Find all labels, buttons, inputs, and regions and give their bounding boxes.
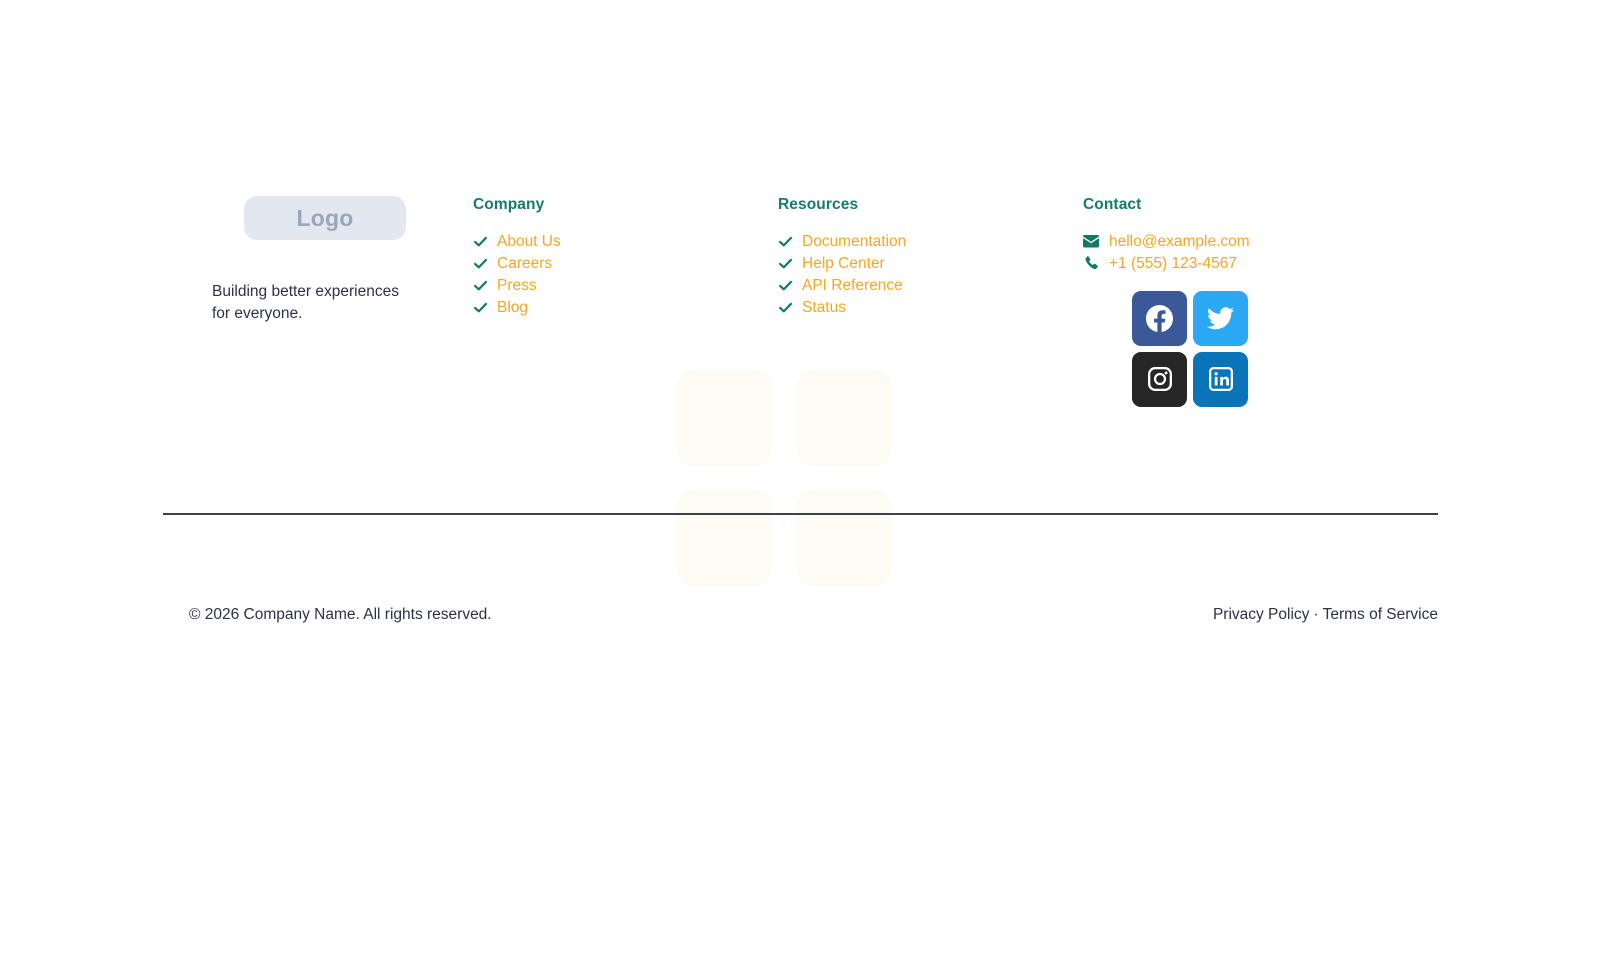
check-icon <box>778 234 793 249</box>
link-press[interactable]: Press <box>497 277 537 295</box>
copyright-text: © 2026 Company Name. All rights reserved… <box>189 606 492 624</box>
list-item[interactable]: About Us <box>473 231 778 253</box>
list-item[interactable]: Careers <box>473 253 778 275</box>
social-link-instagram[interactable] <box>1132 352 1187 407</box>
link-about-us[interactable]: About Us <box>497 233 561 251</box>
check-icon <box>473 234 488 249</box>
link-documentation[interactable]: Documentation <box>802 233 906 251</box>
twitter-icon <box>1207 305 1234 332</box>
brand-tagline: Building better experiences for everyone… <box>212 281 412 325</box>
logo-text: Logo <box>297 205 354 232</box>
footer-column-contact: Contact hello@example.com +1 (555) 123-4… <box>1083 196 1383 407</box>
instagram-icon <box>1147 366 1173 392</box>
link-blog[interactable]: Blog <box>497 299 528 317</box>
contact-phone[interactable]: +1 (555) 123-4567 <box>1109 255 1237 273</box>
envelope-icon <box>1083 234 1099 250</box>
linkedin-icon <box>1208 366 1234 392</box>
column-heading-contact: Contact <box>1083 196 1383 214</box>
link-status[interactable]: Status <box>802 299 846 317</box>
column-heading-company: Company <box>473 196 778 214</box>
facebook-icon <box>1146 305 1173 332</box>
contact-phone-row[interactable]: +1 (555) 123-4567 <box>1083 253 1383 275</box>
footer-column-brand: Logo Building better experiences for eve… <box>163 196 473 325</box>
list-item[interactable]: Documentation <box>778 231 1083 253</box>
contact-email-row[interactable]: hello@example.com <box>1083 231 1383 253</box>
footer-columns: Logo Building better experiences for eve… <box>163 196 1438 407</box>
legal-separator: · <box>1313 606 1318 624</box>
link-api-reference[interactable]: API Reference <box>802 277 903 295</box>
contact-email[interactable]: hello@example.com <box>1109 233 1250 251</box>
list-item[interactable]: Press <box>473 275 778 297</box>
resources-link-list: Documentation Help Center <box>778 231 1083 319</box>
footer-column-company: Company About Us Careers <box>473 196 778 319</box>
phone-icon <box>1083 256 1099 272</box>
check-icon <box>473 256 488 271</box>
site-footer: Logo Building better experiences for eve… <box>0 0 1600 978</box>
footer-column-resources: Resources Documentation Help <box>778 196 1083 319</box>
check-icon <box>778 278 793 293</box>
check-icon <box>778 256 793 271</box>
list-item[interactable]: API Reference <box>778 275 1083 297</box>
footer-content: Logo Building better experiences for eve… <box>163 196 1438 407</box>
social-link-facebook[interactable] <box>1132 291 1187 346</box>
footer-bottom-bar: © 2026 Company Name. All rights reserved… <box>163 606 1438 624</box>
footer-page: Logo Building better experiences for eve… <box>0 0 1600 978</box>
check-icon <box>473 300 488 315</box>
logo-placeholder[interactable]: Logo <box>244 196 406 240</box>
link-help-center[interactable]: Help Center <box>802 255 885 273</box>
social-link-twitter[interactable] <box>1193 291 1248 346</box>
link-careers[interactable]: Careers <box>497 255 552 273</box>
footer-divider <box>163 513 1438 515</box>
list-item[interactable]: Status <box>778 297 1083 319</box>
link-privacy-policy[interactable]: Privacy Policy <box>1213 606 1309 624</box>
list-item[interactable]: Blog <box>473 297 778 319</box>
column-heading-resources: Resources <box>778 196 1083 214</box>
social-links <box>1132 291 1283 407</box>
link-terms-of-service[interactable]: Terms of Service <box>1323 606 1438 624</box>
company-link-list: About Us Careers Press <box>473 231 778 319</box>
social-link-linkedin[interactable] <box>1193 352 1248 407</box>
check-icon <box>473 278 488 293</box>
list-item[interactable]: Help Center <box>778 253 1083 275</box>
legal-links: Privacy Policy · Terms of Service <box>1213 606 1438 624</box>
check-icon <box>778 300 793 315</box>
